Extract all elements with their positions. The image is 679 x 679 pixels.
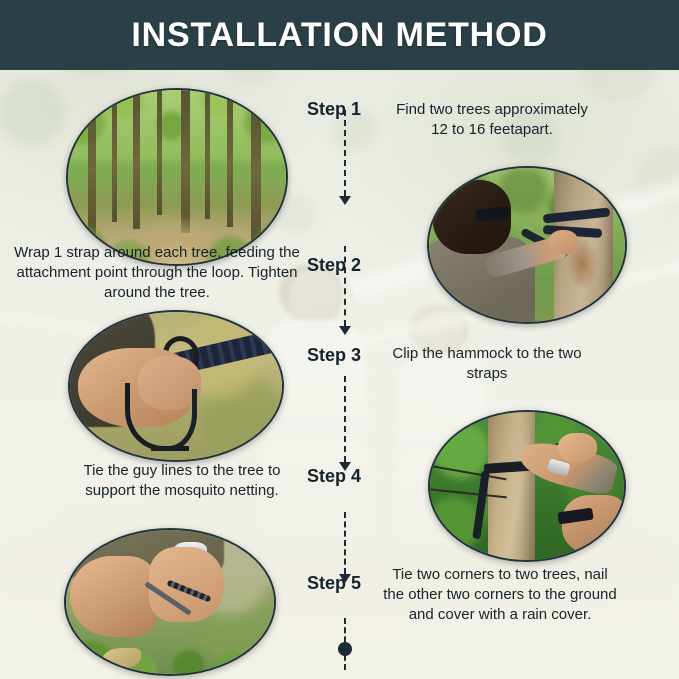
- step-caption-3: Clip the hammock to the two straps: [386, 344, 588, 384]
- tree-trunk: [157, 90, 162, 215]
- carabiner-scene: [70, 312, 282, 460]
- guy-line-tree-photo: [428, 410, 626, 562]
- person-face: [562, 495, 626, 554]
- tree-trunk: [488, 410, 535, 562]
- step-label-2: Step 2: [307, 255, 361, 276]
- ground-stake-scene: [66, 530, 274, 674]
- person-hand: [549, 230, 578, 255]
- guy-line-scene: [430, 412, 624, 560]
- header-banner: INSTALLATION METHOD: [0, 0, 679, 70]
- timeline-segment-3: [344, 376, 346, 462]
- tree-trunk: [205, 90, 210, 219]
- forest-scene: [68, 90, 286, 264]
- step-caption-1: Find two trees approximately 12 to 16 fe…: [386, 100, 598, 140]
- step-caption-2: Wrap 1 strap around each tree, feeding t…: [12, 243, 302, 303]
- step-caption-5: Tie two corners to two trees, nail the o…: [382, 565, 618, 625]
- step-label-3: Step 3: [307, 345, 361, 366]
- step-label-1: Step 1: [307, 99, 361, 120]
- step-caption-4: Tie the guy lines to the tree to support…: [62, 461, 302, 501]
- step-label-4: Step 4: [307, 466, 361, 487]
- ground-stake-photo: [64, 528, 276, 676]
- timeline-arrow-2: [339, 326, 351, 335]
- grass-foreground: [64, 619, 276, 676]
- timeline-end-dot: [338, 642, 352, 656]
- tree-trunk: [227, 90, 233, 227]
- step-label-5: Step 5: [307, 573, 361, 594]
- timeline-segment-4: [344, 512, 346, 574]
- timeline-segment-1: [344, 110, 346, 196]
- carabiner-clip-photo: [68, 310, 284, 462]
- page-title: INSTALLATION METHOD: [131, 16, 547, 55]
- tree-trunk: [112, 90, 117, 222]
- timeline-arrow-1: [339, 196, 351, 205]
- person-hand: [558, 433, 597, 463]
- strap-around-tree-photo: [427, 166, 627, 324]
- infographic-page: INSTALLATION METHOD Step 1 Find two: [0, 0, 679, 679]
- forest-trees-photo: [66, 88, 288, 266]
- strap-wrap-scene: [429, 168, 625, 322]
